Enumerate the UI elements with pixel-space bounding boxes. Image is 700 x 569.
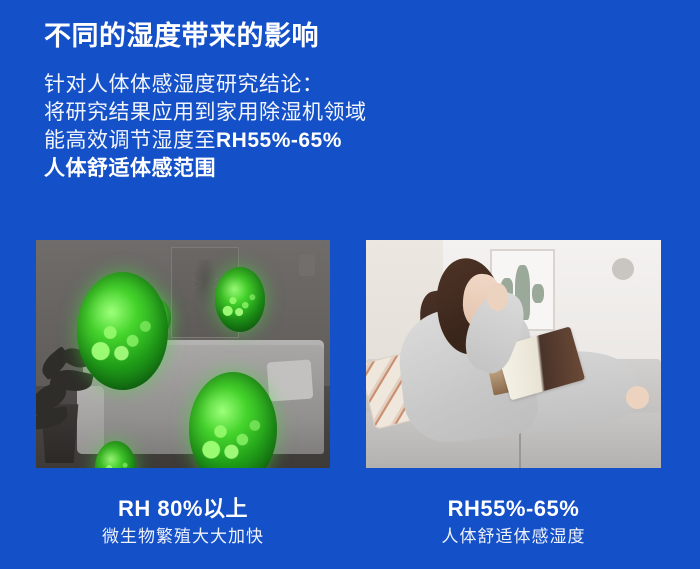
caption-high-humidity: RH 80%以上 微生物繁殖大大加快 — [36, 494, 330, 550]
humidity-infographic-page: { "theme": { "background_color": "#1450c… — [0, 0, 700, 569]
header-text-block: 不同的湿度带来的影响 针对人体体感湿度研究结论： 将研究结果应用到家用除湿机领域… — [44, 18, 664, 183]
caption-sub-high-humidity: 微生物繁殖大大加快 — [36, 524, 330, 550]
bright-living-room-scene — [366, 240, 661, 468]
dark-living-room-scene — [36, 240, 330, 468]
caption-title-comfort-humidity: RH55%-65% — [366, 494, 661, 524]
intro-line-3: 能高效调节湿度至RH55%-65% — [44, 127, 664, 155]
foot — [626, 386, 650, 409]
caption-comfort-humidity: RH55%-65% 人体舒适体感湿度 — [366, 494, 661, 550]
sofa-cushion — [267, 359, 314, 401]
intro-line-3-humidity-range: RH55%-65% — [216, 129, 342, 152]
woman-reading-figure — [366, 240, 661, 468]
panel-comfort-humidity-photo — [366, 240, 661, 468]
intro-line-4: 人体舒适体感范围 — [44, 155, 664, 183]
intro-line-2: 将研究结果应用到家用除湿机领域 — [44, 99, 664, 127]
microbe-sphere-icon — [215, 267, 265, 332]
caption-sub-comfort-humidity: 人体舒适体感湿度 — [366, 524, 661, 550]
page-title: 不同的湿度带来的影响 — [44, 18, 664, 54]
sofa-armrest — [77, 386, 103, 454]
microbe-sphere-icon — [77, 272, 168, 390]
intro-line-3-prefix: 能高效调节湿度至 — [44, 129, 216, 152]
comparison-panels — [36, 240, 661, 468]
wall-fixture-icon — [299, 254, 315, 276]
intro-paragraph: 针对人体体感湿度研究结论： 将研究结果应用到家用除湿机领域 能高效调节湿度至RH… — [44, 71, 664, 183]
panel-high-humidity-photo — [36, 240, 330, 468]
caption-title-high-humidity: RH 80%以上 — [36, 494, 330, 524]
panel-captions: RH 80%以上 微生物繁殖大大加快 RH55%-65% 人体舒适体感湿度 — [36, 494, 661, 562]
hand — [487, 283, 508, 310]
intro-line-1: 针对人体体感湿度研究结论： — [44, 71, 664, 99]
